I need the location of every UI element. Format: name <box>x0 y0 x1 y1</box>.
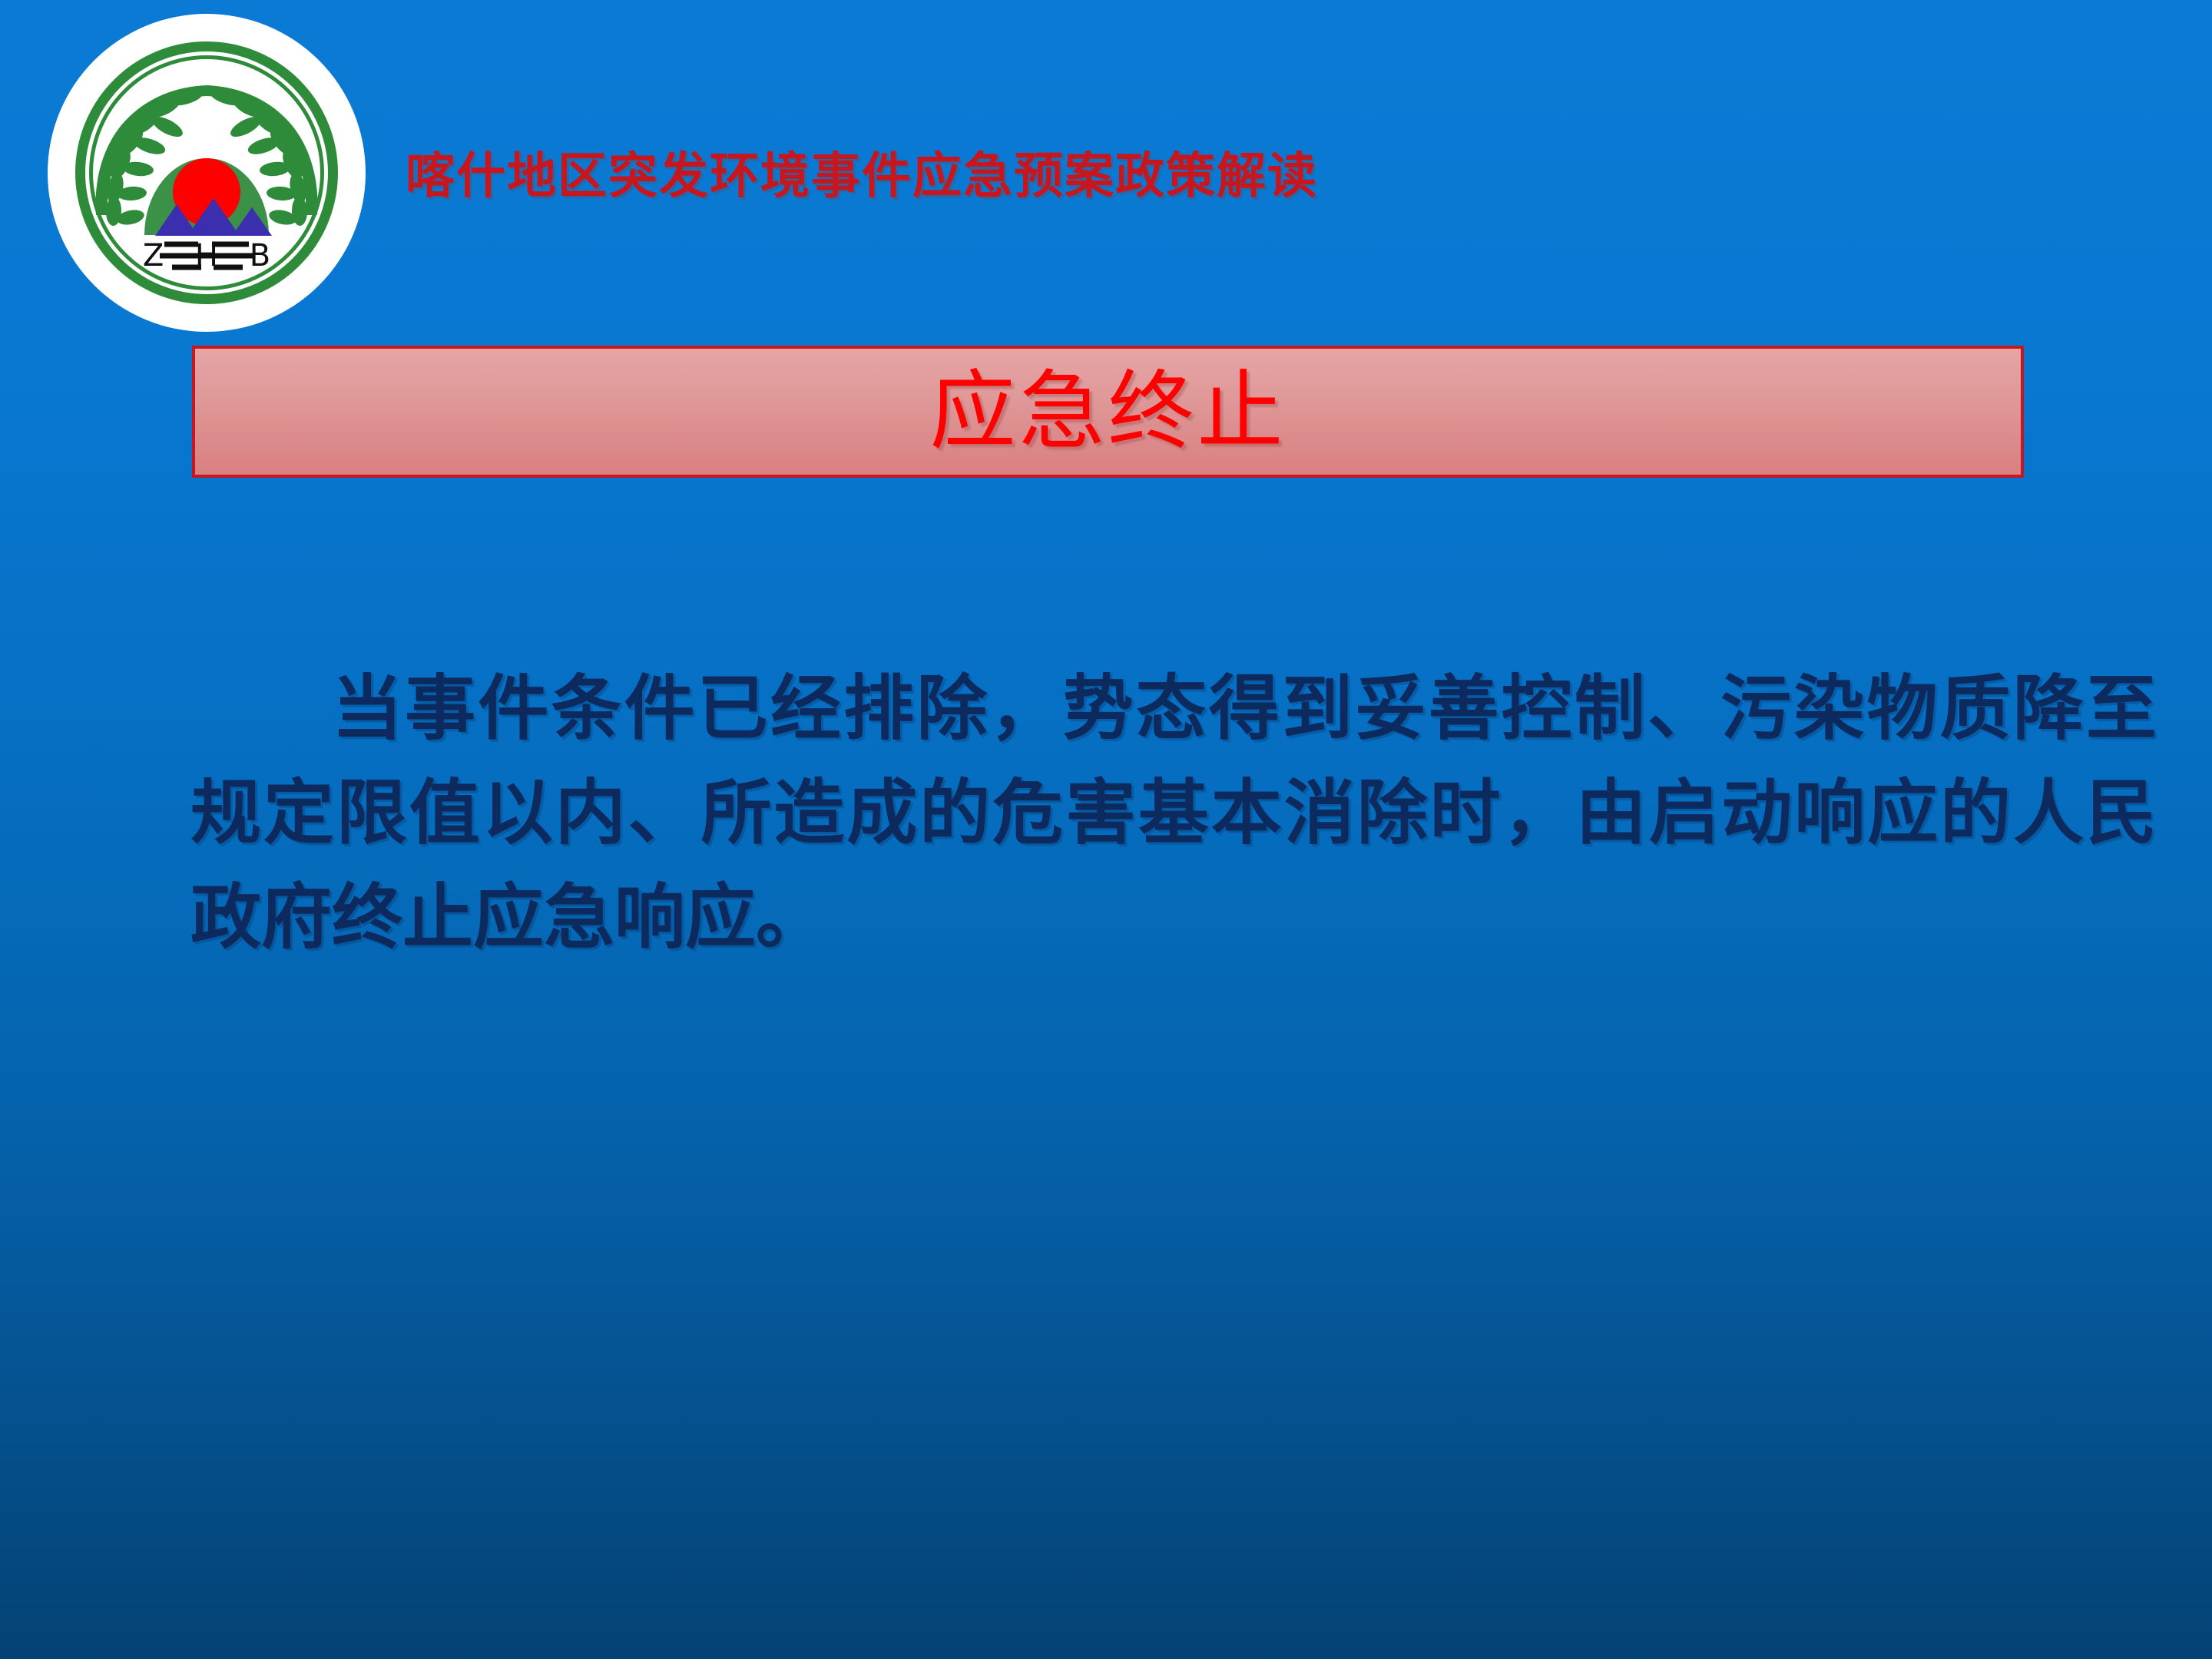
slide-header-title: 喀什地区突发环境事件应急预案政策解读 <box>406 137 1318 207</box>
logo-artwork <box>48 14 366 332</box>
slide-body-paragraph: 当事件条件已经排除，势态得到妥善控制、污染物质降至规定限值以内、所造成的危害基本… <box>190 657 2157 970</box>
logo-acronym-label: Z H B <box>48 238 366 273</box>
section-title-banner: 应急终止 <box>192 346 2024 478</box>
presentation-slide: Z H B 喀什地区突发环境事件应急预案政策解读 应急终止 当事件条件已经排除，… <box>0 0 2212 1659</box>
organization-logo: Z H B <box>48 14 366 332</box>
section-title-text: 应急终止 <box>930 369 1286 455</box>
